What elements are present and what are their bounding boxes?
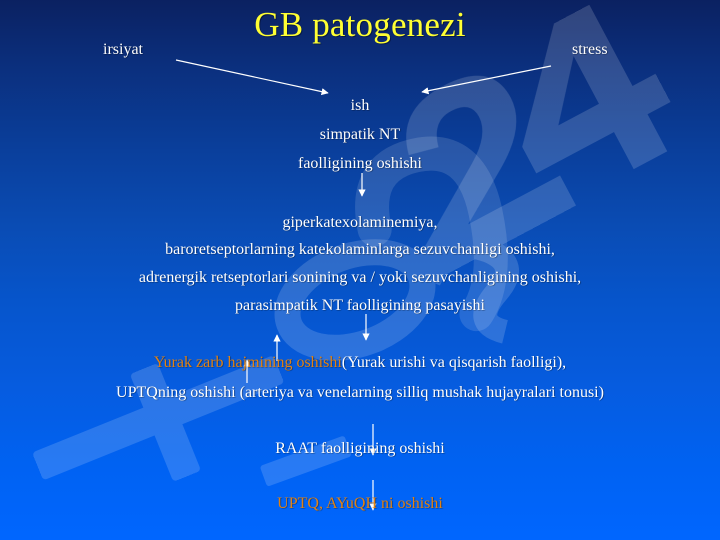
flow-node3-line1: Yurak zarb hajmining oshishi(Yurak urish… [0,351,720,375]
arrow-stress-to-ish [422,66,551,92]
flow-node2-line3: adrenergik retseptorlari sonining va / y… [0,266,720,290]
flow-node3-line2: UPTQning oshishi (arteriya va venelarnin… [0,381,720,405]
label-stress: stress [572,38,608,62]
flow-node3-highlight: Yurak zarb hajmining oshishi [154,354,342,371]
flow-node4: RAAT faolligining oshishi [0,437,720,461]
flow-node2-line4: parasimpatik NT faolligining pasayishi [0,294,720,318]
flow-node3-rest: (Yurak urishi va qisqarish faolligi), [342,354,566,371]
flow-node5: UPTQ, AYuQH ni oshishi [0,492,720,516]
presentation-slide: GB patogenezi irsiyat stress ish simpati… [0,0,720,540]
flow-node-ish-line1: ish [0,94,720,118]
label-irsiyat: irsiyat [103,38,143,62]
flow-node-ish-line2: simpatik NT [0,123,720,147]
flow-node2-line1: giperkatexolaminemiya, [0,211,720,235]
arrow-irsiyat-to-ish [176,60,328,93]
flow-node-ish-line3: faolligining oshishi [0,152,720,176]
flow-node2-line2: baroretseptorlarning katekolaminlarga se… [0,238,720,262]
